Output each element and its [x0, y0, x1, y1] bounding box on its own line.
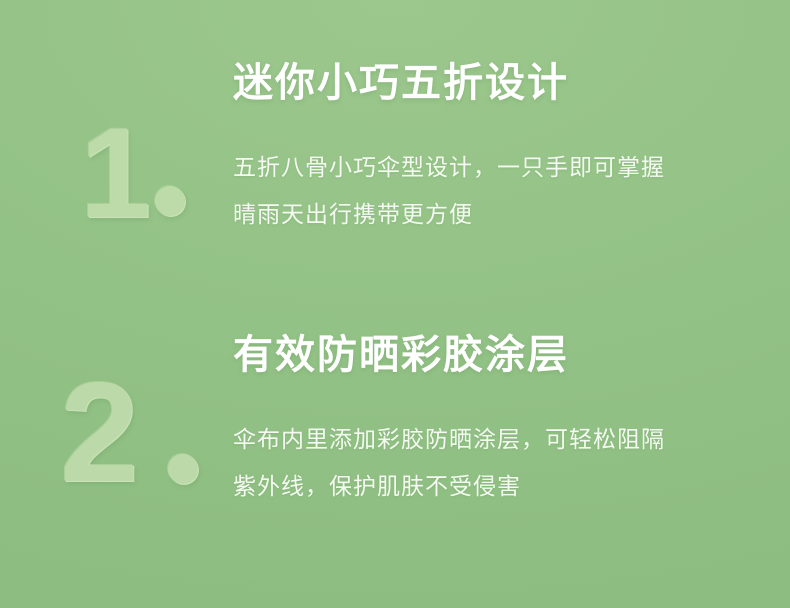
- feature-block-2: 2 有效防晒彩胶涂层 伞布内里添加彩胶防晒涂层，可轻松阻隔 紫外线，保护肌肤不受…: [0, 332, 790, 532]
- product-feature-page: 1 迷你小巧五折设计 五折八骨小巧伞型设计，一只手即可掌握 晴雨天出行携带更方便…: [0, 0, 790, 608]
- feature-body-2: 伞布内里添加彩胶防晒涂层，可轻松阻隔 紫外线，保护肌肤不受侵害: [233, 416, 753, 510]
- feature-number-dot-icon: [155, 186, 185, 216]
- feature-heading-1: 迷你小巧五折设计: [233, 60, 753, 106]
- feature-body-line: 晴雨天出行携带更方便: [233, 191, 753, 238]
- feature-number-digit: 1: [80, 108, 149, 240]
- feature-text-column-1: 迷你小巧五折设计 五折八骨小巧伞型设计，一只手即可掌握 晴雨天出行携带更方便: [233, 60, 753, 238]
- feature-heading-2: 有效防晒彩胶涂层: [233, 332, 753, 378]
- feature-body-line: 伞布内里添加彩胶防晒涂层，可轻松阻隔: [233, 416, 753, 463]
- feature-text-column-2: 有效防晒彩胶涂层 伞布内里添加彩胶防晒涂层，可轻松阻隔 紫外线，保护肌肤不受侵害: [233, 332, 753, 510]
- feature-body-line: 紫外线，保护肌肤不受侵害: [233, 463, 753, 510]
- feature-block-1: 1 迷你小巧五折设计 五折八骨小巧伞型设计，一只手即可掌握 晴雨天出行携带更方便: [0, 60, 790, 260]
- feature-number-1: 1: [62, 60, 212, 200]
- feature-body-1: 五折八骨小巧伞型设计，一只手即可掌握 晴雨天出行携带更方便: [233, 144, 753, 238]
- feature-number-digit: 2: [60, 367, 137, 499]
- feature-number-dot-icon: [168, 454, 198, 484]
- feature-number-2: 2: [50, 332, 200, 472]
- feature-body-line: 五折八骨小巧伞型设计，一只手即可掌握: [233, 144, 753, 191]
